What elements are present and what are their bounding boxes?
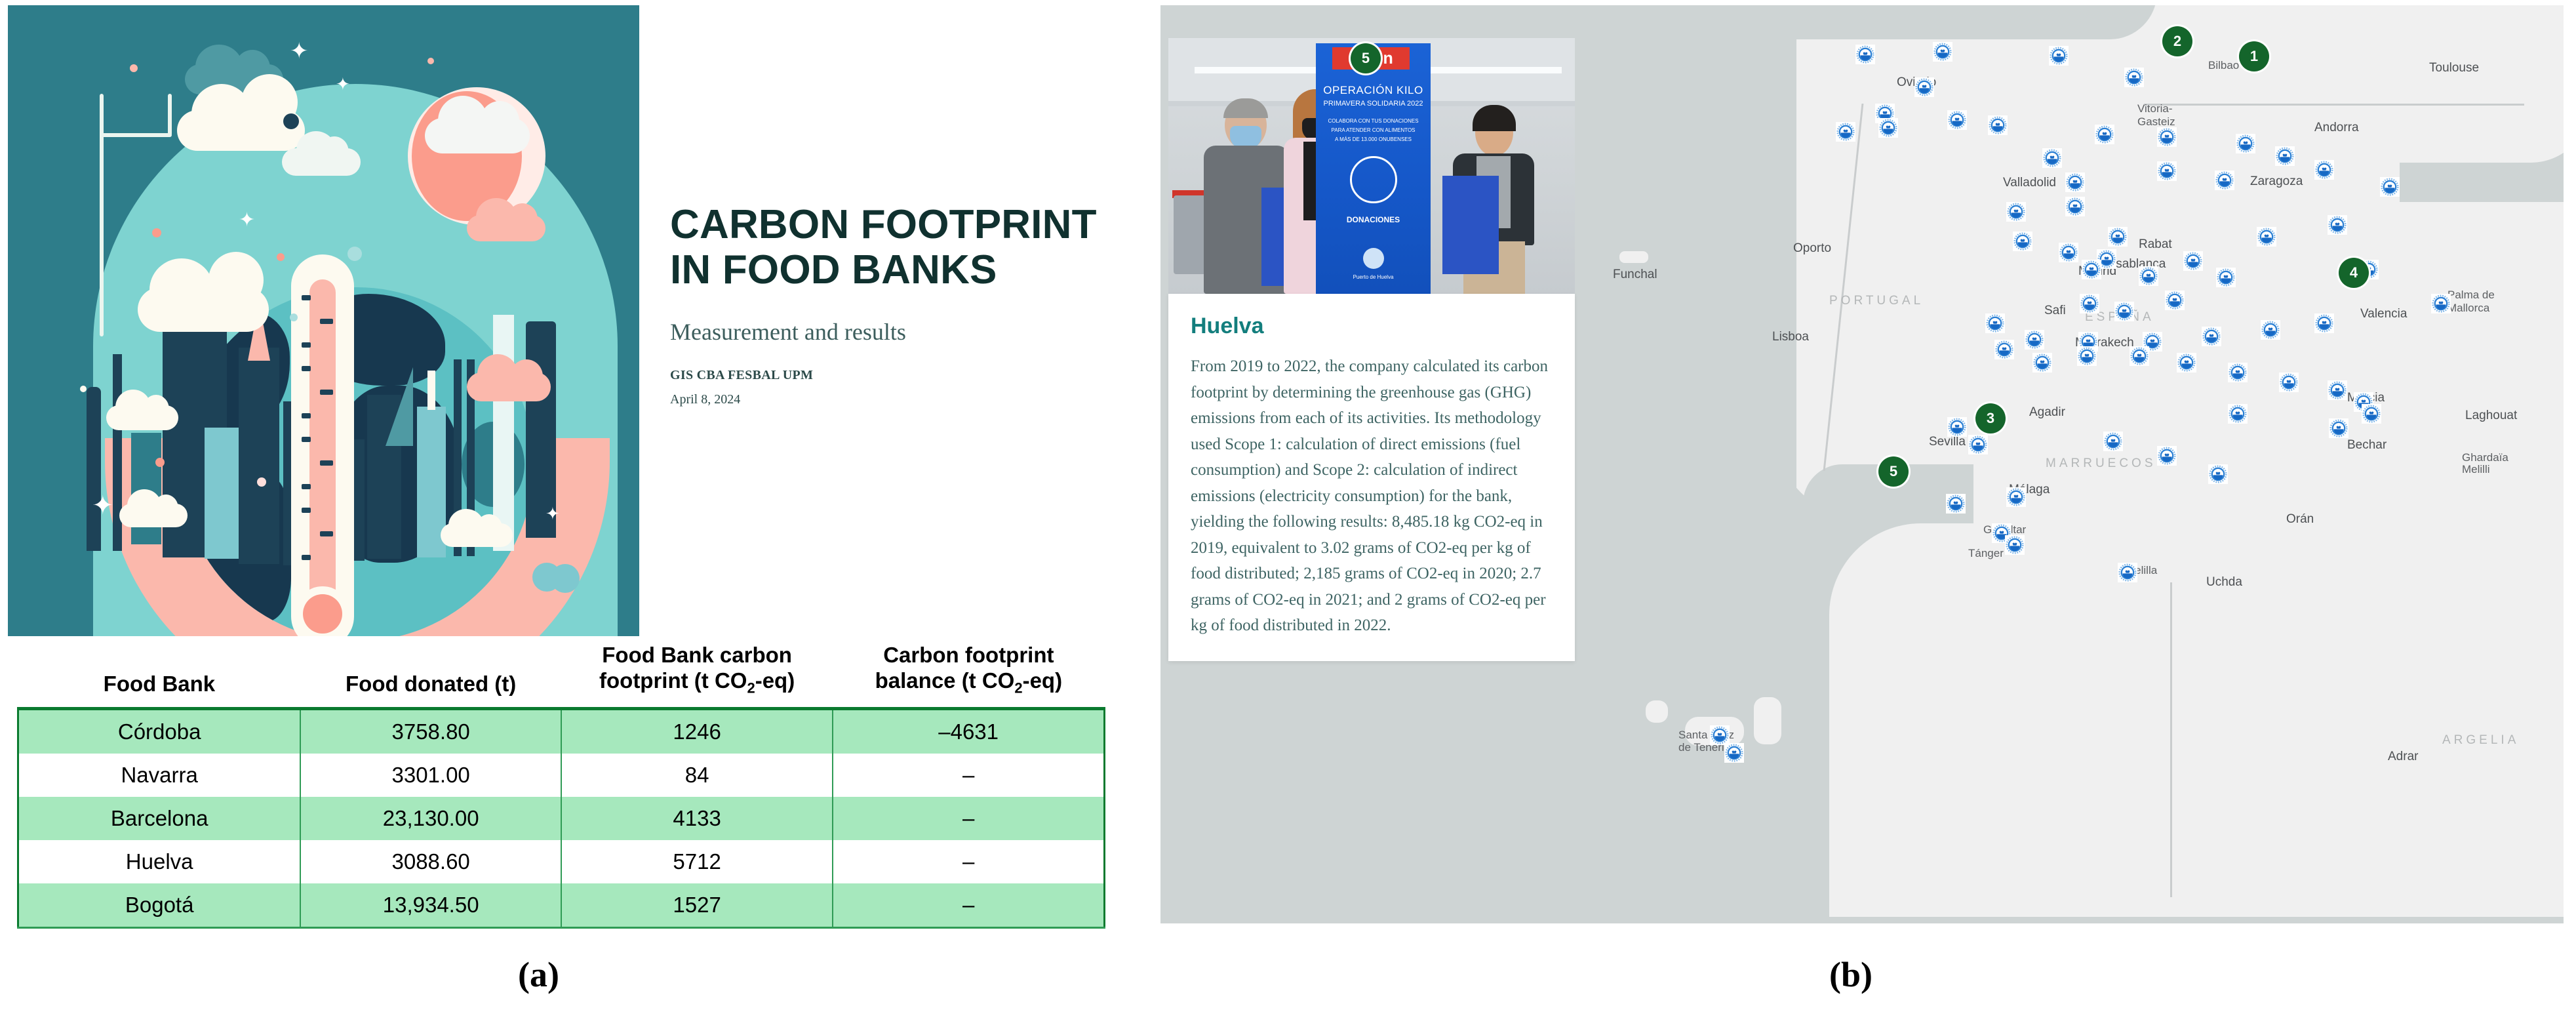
dot-icon [347, 247, 362, 261]
wire-vertical [100, 94, 104, 336]
thermometer-icon [291, 254, 354, 636]
map-label: Rabat [2139, 237, 2172, 252]
cell-balance: –4631 [833, 709, 1104, 754]
cell-donated: 3758.80 [300, 709, 561, 754]
food-bank-marker-icon[interactable] [2042, 148, 2062, 168]
operacion-kilo-photo: OPERACIÓN KILO PRIMAVERA SOLIDARIA 2022 … [1168, 38, 1575, 294]
table-body: Córdoba 3758.80 1246 –4631 Navarra 3301.… [18, 709, 1105, 928]
col4-line2a: balance (t CO [875, 668, 1015, 693]
land-balearic-2 [2505, 264, 2543, 281]
food-bank-marker-icon[interactable] [1994, 340, 2014, 359]
land-canary-2 [1754, 697, 1781, 744]
border-algeria-morocco [2170, 582, 2172, 897]
col3-sub: 2 [747, 680, 755, 696]
map-label: Gasteiz [2137, 115, 2175, 129]
cell-donated: 13,934.50 [300, 883, 561, 928]
map-label: PORTUGAL [1829, 294, 1924, 308]
cloud-icon [282, 148, 361, 176]
dot-icon [460, 172, 472, 184]
building [427, 371, 435, 410]
table-row: Navarra 3301.00 84 – [18, 754, 1105, 797]
food-bank-marker-icon[interactable] [2157, 446, 2177, 466]
cell-footprint: 4133 [561, 797, 833, 840]
food-bank-marker-icon[interactable] [2006, 487, 2026, 507]
map-label: Adrar [2388, 750, 2418, 764]
sparkle-icon: ✦ [336, 74, 350, 94]
food-bank-marker-icon[interactable] [1836, 122, 1855, 142]
title-line-1: CARBON FOOTPRINT [670, 202, 1116, 247]
map-marker-4[interactable]: 4 [2339, 258, 2369, 288]
dot-icon [290, 313, 298, 321]
food-bank-marker-icon[interactable] [1947, 417, 1967, 437]
wire-horizontal [100, 133, 172, 137]
map-canvas[interactable]: OPERACIÓN KILO PRIMAVERA SOLIDARIA 2022 … [1160, 5, 2564, 923]
building [239, 348, 279, 564]
map-label: MARRUECOS [2046, 456, 2156, 471]
slide-organization: GIS CBA FESBAL UPM [670, 368, 1116, 383]
map-label: Agadir [2029, 405, 2065, 420]
map-label: Ghardaïa [2462, 451, 2508, 464]
map-label: ARGELIA [2442, 733, 2519, 748]
cell-balance: – [833, 754, 1104, 797]
cell-footprint: 1246 [561, 709, 833, 754]
dot-icon [427, 58, 434, 64]
map-marker-1[interactable]: 1 [2239, 41, 2269, 71]
food-bank-marker-icon[interactable] [2082, 260, 2101, 279]
food-bank-marker-icon[interactable] [2032, 353, 2052, 373]
food-bank-marker-icon[interactable] [1724, 743, 1744, 763]
cloud-icon [425, 118, 530, 153]
table-row: Huelva 3088.60 5712 – [18, 840, 1105, 883]
cell-balance: – [833, 883, 1104, 928]
food-bank-marker-icon[interactable] [2314, 160, 2334, 180]
food-bank-marker-icon[interactable] [2215, 171, 2234, 190]
map-label: Lisboa [1772, 330, 1809, 344]
food-bank-marker-icon[interactable] [2006, 202, 2026, 222]
land-madeira [1619, 251, 1648, 263]
food-bank-table: Food Bank Food donated (t) Food Bank car… [17, 636, 1105, 929]
food-bank-marker-icon[interactable] [2431, 294, 2451, 313]
food-bank-marker-icon[interactable] [1985, 313, 2005, 333]
food-bank-marker-icon[interactable] [2362, 404, 2381, 424]
page-title: CARBON FOOTPRINT IN FOOD BANKS [670, 202, 1116, 293]
huelva-info-column: OPERACIÓN KILO PRIMAVERA SOLIDARIA 2022 … [1168, 38, 1575, 661]
food-bank-marker-icon[interactable] [2013, 232, 2032, 251]
cell-bank: Córdoba [18, 709, 301, 754]
cell-bank: Huelva [18, 840, 301, 883]
dot-icon [551, 564, 580, 593]
food-bank-marker-icon[interactable] [2108, 227, 2128, 247]
col3-line2b: -eq) [755, 668, 795, 693]
dot-icon [80, 386, 87, 392]
food-bank-marker-icon[interactable] [1710, 725, 1730, 745]
building [87, 387, 101, 551]
poster-held-right [1442, 176, 1499, 274]
banner-subtitle: PRIMAVERA SOLIDARIA 2022 [1316, 100, 1431, 108]
col-food-donated: Food donated (t) [300, 636, 561, 709]
banner-footer: Puerto de Huelva [1316, 274, 1431, 280]
banner-logo-circle [1350, 156, 1397, 203]
food-bank-marker-icon[interactable] [1855, 45, 1875, 64]
operacion-kilo-banner: OPERACIÓN KILO PRIMAVERA SOLIDARIA 2022 … [1316, 43, 1431, 294]
col-carbon-footprint: Food Bank carbon footprint (t CO2-eq) [561, 636, 833, 709]
map-label: Andorra [2314, 121, 2359, 135]
food-bank-marker-icon[interactable] [1947, 110, 1967, 130]
table-row: Bogotá 13,934.50 1527 – [18, 883, 1105, 928]
map-label: Valladolid [2003, 176, 2056, 190]
food-bank-marker-icon[interactable] [2177, 353, 2196, 373]
panel-b: OPERACIÓN KILO PRIMAVERA SOLIDARIA 2022 … [1160, 5, 2564, 923]
cell-footprint: 1527 [561, 883, 833, 928]
food-bank-marker-icon[interactable] [2103, 432, 2123, 451]
col-carbon-balance: Carbon footprint balance (t CO2-eq) [833, 636, 1104, 709]
food-bank-marker-icon[interactable] [2157, 127, 2177, 147]
slide-subtitle: Measurement and results [670, 318, 1116, 346]
dot-icon [277, 253, 285, 261]
food-bank-marker-icon[interactable] [2077, 346, 2097, 366]
food-bank-marker-icon[interactable] [2228, 404, 2248, 424]
cell-footprint: 5712 [561, 840, 833, 883]
cell-bank: Bogotá [18, 883, 301, 928]
food-bank-marker-icon[interactable] [2202, 327, 2221, 346]
food-bank-marker-icon[interactable] [2228, 363, 2248, 382]
col4-line2b: -eq) [1023, 668, 1063, 693]
food-bank-marker-icon[interactable] [2025, 330, 2044, 350]
info-card-title: Huelva [1191, 313, 1553, 339]
table-row: Barcelona 23,130.00 4133 – [18, 797, 1105, 840]
food-bank-marker-icon[interactable] [2328, 380, 2347, 400]
building [131, 433, 161, 544]
caption-a: (a) [518, 954, 559, 995]
banner-line1: COLABORA CON TUS DONACIONES [1316, 118, 1431, 124]
map-label: Mallorca [2447, 302, 2489, 315]
figure-root: ✦ ✦ ✦ ✦ ✦ CARBON [0, 0, 2576, 1029]
col4-sub: 2 [1014, 680, 1022, 696]
food-bank-marker-icon[interactable] [1914, 77, 1934, 97]
col-food-bank: Food Bank [18, 636, 301, 709]
food-bank-marker-icon[interactable] [2236, 134, 2255, 153]
cloud-icon [106, 405, 178, 430]
map-marker-3[interactable]: 3 [1975, 403, 2006, 434]
food-bank-marker-icon[interactable] [2005, 535, 2025, 555]
food-bank-marker-icon[interactable] [2065, 172, 2085, 192]
food-bank-marker-icon[interactable] [2080, 294, 2099, 313]
food-bank-marker-icon[interactable] [2157, 161, 2177, 181]
border-pyrenees [2144, 104, 2524, 106]
map-label: Bilbao [2208, 59, 2239, 72]
food-bank-marker-icon[interactable] [2049, 46, 2069, 66]
banner-title: OPERACIÓN KILO [1316, 84, 1431, 97]
cell-bank: Navarra [18, 754, 301, 797]
food-bank-marker-icon[interactable] [2380, 177, 2400, 197]
cloud-icon [119, 504, 188, 527]
map-label: Laghouat [2465, 409, 2517, 423]
banner-section: DONACIONES [1316, 215, 1431, 224]
cloud-icon [138, 287, 269, 332]
food-bank-marker-icon[interactable] [1878, 118, 1898, 138]
col3-line2a: footprint (t CO [599, 668, 747, 693]
cloud-pink-icon [467, 373, 551, 401]
caption-b: (b) [1829, 954, 1873, 995]
food-bank-marker-icon[interactable] [2329, 418, 2348, 438]
info-card-body: From 2019 to 2022, the company calculate… [1191, 353, 1553, 639]
building [205, 428, 241, 559]
map-label: Toulouse [2429, 61, 2479, 75]
person-hair [1473, 105, 1516, 131]
map-label: Safi [2044, 304, 2066, 318]
food-bank-marker-icon[interactable] [2139, 266, 2158, 286]
cloud-pink-icon [467, 215, 545, 241]
map-label: Valencia [2360, 307, 2407, 321]
land-canary-3 [1646, 700, 1668, 723]
dot-icon [130, 64, 138, 72]
food-bank-marker-icon[interactable] [2279, 373, 2299, 392]
food-bank-marker-icon[interactable] [1988, 115, 2008, 135]
sparkle-icon: ✦ [92, 491, 114, 521]
food-bank-marker-icon[interactable] [2314, 313, 2334, 333]
map-label: Tánger [1968, 547, 2004, 560]
map-marker-5[interactable]: 5 [1878, 456, 1909, 487]
food-bank-marker-icon[interactable] [2165, 291, 2185, 310]
table-row: Córdoba 3758.80 1246 –4631 [18, 709, 1105, 754]
food-bank-marker-icon[interactable] [1946, 494, 1966, 514]
table-header: Food Bank Food donated (t) Food Bank car… [18, 636, 1105, 709]
map-label: Oporto [1793, 241, 1831, 256]
food-bank-marker-icon[interactable] [1933, 42, 1952, 62]
col4-line1: Carbon footprint [883, 643, 1054, 667]
map-marker-2[interactable]: 2 [2162, 26, 2192, 56]
food-bank-marker-icon[interactable] [2216, 268, 2236, 287]
cell-balance: – [833, 840, 1104, 883]
map-label: Sevilla [1929, 435, 1966, 449]
map-label: Melilli [2462, 463, 2490, 476]
cell-donated: 3088.60 [300, 840, 561, 883]
dot-icon [257, 477, 266, 487]
banner-line3: A MÁS DE 13.000 ONUBENSES [1316, 136, 1431, 142]
banner-line2: PARA ATENDER CON ALIMENTOS [1316, 127, 1431, 133]
panel-a: ✦ ✦ ✦ ✦ ✦ CARBON [0, 0, 1121, 1029]
food-bank-marker-icon[interactable] [2257, 227, 2276, 247]
cell-bank: Barcelona [18, 797, 301, 840]
food-bank-marker-icon[interactable] [2130, 346, 2149, 366]
food-bank-marker-icon[interactable] [1968, 435, 1988, 454]
map-label: Vitoria- [2137, 102, 2173, 115]
col3-line1: Food Bank carbon [602, 643, 792, 667]
face-mask [1230, 126, 1261, 148]
sparkle-icon: ✦ [239, 209, 255, 232]
cell-footprint: 84 [561, 754, 833, 797]
map-label: Palma de [2447, 289, 2495, 302]
food-bank-marker-icon[interactable] [2065, 197, 2085, 216]
food-bank-marker-icon[interactable] [2095, 125, 2114, 144]
earth-thermometer-illustration: ✦ ✦ ✦ ✦ ✦ [8, 5, 639, 636]
map-label: Uchda [2206, 575, 2242, 590]
food-bank-marker-icon[interactable] [2118, 563, 2137, 582]
food-bank-marker-icon[interactable] [2059, 243, 2078, 262]
huelva-info-card: Huelva From 2019 to 2022, the company ca… [1168, 294, 1575, 661]
sparkle-icon: ✦ [290, 38, 309, 64]
sparkle-icon: ✦ [545, 504, 560, 524]
food-bank-marker-icon[interactable] [2275, 146, 2295, 166]
map-label: Bechar [2347, 438, 2387, 453]
food-bank-marker-icon[interactable] [2261, 320, 2280, 340]
food-bank-marker-icon[interactable] [2114, 302, 2134, 321]
cell-donated: 3301.00 [300, 754, 561, 797]
food-bank-marker-icon[interactable] [2208, 464, 2228, 484]
wire-riser [168, 94, 172, 136]
title-line-2: IN FOOD BANKS [670, 247, 1116, 293]
food-bank-marker-icon[interactable] [2328, 215, 2347, 235]
slide-text-block: CARBON FOOTPRINT IN FOOD BANKS Measureme… [670, 202, 1116, 407]
banner-seal-icon [1363, 248, 1384, 269]
sea-cantabrian [1751, 5, 2157, 39]
cell-donated: 23,130.00 [300, 797, 561, 840]
map-label: Zaragoza [2250, 174, 2303, 189]
table-header-row: Food Bank Food donated (t) Food Bank car… [18, 636, 1105, 709]
cloud-icon [441, 523, 513, 547]
building [493, 315, 514, 551]
map-label: Funchal [1613, 268, 1657, 282]
map-marker-5[interactable]: 5 [1351, 43, 1381, 73]
dot-icon [152, 228, 161, 237]
food-bank-marker-icon[interactable] [2124, 68, 2144, 87]
dot-icon [283, 113, 299, 129]
slide-date: April 8, 2024 [670, 392, 1116, 407]
cell-balance: – [833, 797, 1104, 840]
dot-icon [155, 458, 165, 467]
food-bank-marker-icon[interactable] [2183, 251, 2203, 271]
map-label: Orán [2286, 512, 2314, 527]
